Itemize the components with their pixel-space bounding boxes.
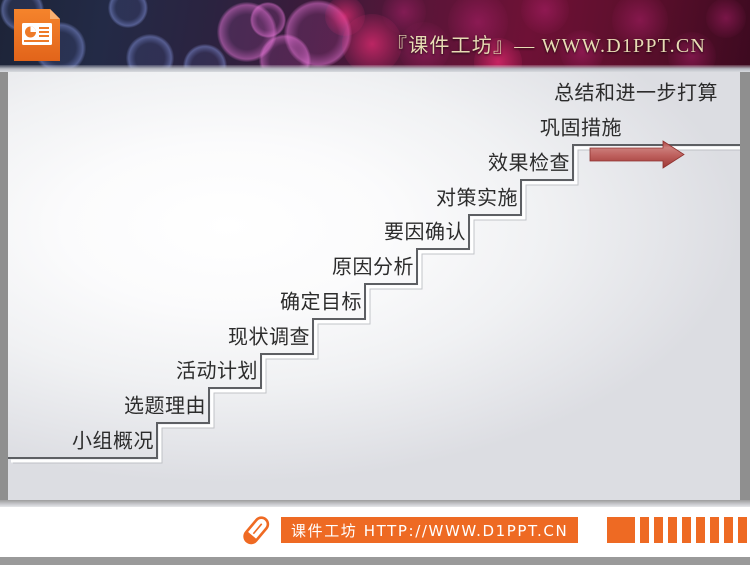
step-label-1: 小组概况	[72, 425, 154, 454]
footer-top-edge	[0, 500, 750, 507]
footer-bar-decoration	[607, 517, 750, 543]
powerpoint-logo-icon	[8, 6, 66, 64]
step-label-9: 效果检查	[488, 147, 570, 176]
footer-bar	[607, 517, 635, 543]
footer-bar	[738, 517, 747, 543]
step-label-10: 巩固措施	[540, 112, 622, 141]
footer-bar	[710, 517, 719, 543]
step-label-11: 总结和进一步打算	[554, 77, 718, 106]
footer-bar	[640, 517, 649, 543]
staircase-line	[8, 145, 740, 458]
step-label-8: 对策实施	[436, 182, 518, 211]
presentation-slide: 『课件工坊』— WWW.D1PPT.CN	[0, 0, 750, 565]
footer-bar	[668, 517, 677, 543]
header-bottom-edge	[0, 65, 750, 72]
step-label-6: 原因分析	[332, 251, 414, 280]
step-label-2: 选题理由	[124, 390, 206, 419]
pen-icon	[233, 512, 275, 559]
footer-bar	[724, 517, 733, 543]
slide-header-banner: 『课件工坊』— WWW.D1PPT.CN	[0, 0, 750, 72]
slide-canvas: 小组概况 选题理由 活动计划 现状调查 确定目标 原因分析 要因确认 对策实施 …	[8, 72, 740, 500]
header-site-title: 『课件工坊』— WWW.D1PPT.CN	[387, 29, 706, 58]
step-label-5: 确定目标	[280, 286, 362, 315]
staircase-shadow	[13, 150, 740, 463]
footer-bar	[654, 517, 663, 543]
slide-body-frame: 小组概况 选题理由 活动计划 现状调查 确定目标 原因分析 要因确认 对策实施 …	[0, 72, 750, 500]
step-label-3: 活动计划	[176, 355, 258, 384]
footer-bar	[696, 517, 705, 543]
step-label-7: 要因确认	[384, 216, 466, 245]
staircase-highlight	[11, 148, 740, 461]
footer-bar	[682, 517, 691, 543]
footer-site-banner: 课件工坊 HTTP://WWW.D1PPT.CN	[281, 517, 578, 543]
step-label-4: 现状调查	[228, 321, 310, 350]
